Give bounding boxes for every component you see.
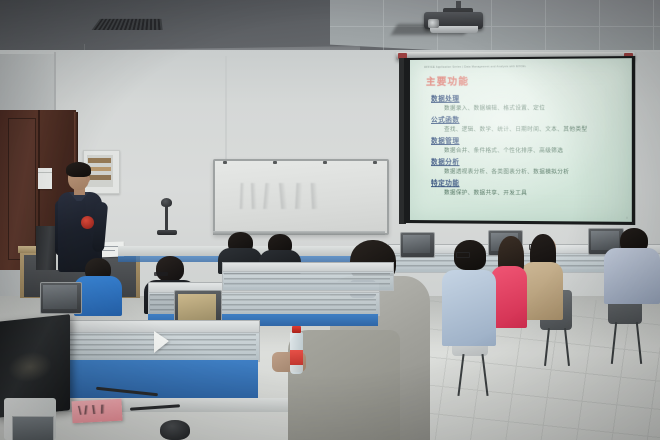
glasses-icon: [154, 272, 168, 276]
whiteboard-writing: [238, 183, 348, 209]
slide-section-detail: 查找、逻辑、数学、统计、日期时间、文本、其他类型: [444, 125, 623, 133]
glasses-icon: [456, 252, 470, 258]
wall-art-band-1: [88, 158, 111, 163]
attendee-body-light-blue-shirt: [442, 270, 496, 346]
slide-section: 数据处理 数据录入、数据编辑、格式设置、定位: [422, 92, 623, 112]
instructor-ear: [86, 176, 90, 182]
wall-art-band-2: [88, 167, 111, 171]
attendee-body-beige-coat: [521, 262, 563, 320]
slide-section: 公式函数 查找、逻辑、数学、统计、日期时间、文本、其他类型: [422, 113, 623, 133]
air-vent-icon: [92, 19, 163, 30]
bottle-cap-icon[interactable]: [292, 326, 301, 333]
slide-section-detail: 数据录入、数据编辑、格式设置、定位: [444, 103, 623, 112]
paper-sheet: [154, 331, 169, 353]
student-body-grey-with-bottle: [288, 330, 400, 440]
slide-section-heading: 数据处理: [431, 92, 623, 103]
slide-section-heading: 特定功能: [431, 177, 623, 188]
slide-title: 主要功能: [426, 72, 623, 87]
slide-section-heading: 公式函数: [431, 113, 623, 124]
bottle-label: [290, 350, 303, 365]
student-head-with-glasses: [156, 256, 184, 282]
whiteboard-clip: [323, 161, 327, 164]
attendee-body-lavender-shirt: [604, 248, 660, 304]
slide-page-number: 8: [626, 217, 627, 220]
slide-section: 数据分析 数据透视表分析、各类图表分析、数据模拟分析: [422, 156, 623, 176]
slide-section: 数据管理 数据合并、条件格式、个性化排序、高级筛选: [422, 135, 623, 154]
cubicle-accent-front: [68, 360, 258, 400]
monitor-sheen: [8, 350, 52, 385]
slide-section-heading: 数据管理: [431, 135, 623, 145]
cabinet-panel: [8, 118, 36, 260]
monitor-screen: [43, 285, 77, 309]
foreground-monitor-screen: [12, 416, 54, 440]
wall-art-band-3: [88, 175, 111, 180]
cubicle-blinds-right-mid: [224, 273, 390, 287]
microphone-icon: [161, 198, 172, 207]
slide-section-detail: 数据透视表分析、各类图表分析、数据模拟分析: [444, 167, 623, 176]
slide-section-heading: 数据分析: [431, 156, 623, 167]
slide-section-detail: 数据合并、条件格式、个性化排序、高级筛选: [444, 146, 623, 154]
sticky-note-text: [78, 404, 112, 415]
slide-section: 特定功能 数据保护、数据共享、开发工具: [422, 177, 623, 197]
whiteboard-clip: [223, 161, 227, 164]
instructor-shirt-logo: [81, 216, 94, 229]
cabinet-notice-line: [38, 172, 52, 173]
monitor-screen: [403, 235, 430, 253]
projector-lens-icon: [428, 19, 439, 28]
slide-section-detail: 数据保护、数据共享、开发工具: [444, 188, 623, 197]
microphone-base: [157, 230, 177, 235]
presentation-slide: OFFICE Application Series | Data Managem…: [410, 58, 632, 222]
whiteboard-clip: [273, 161, 277, 164]
whiteboard-clip: [373, 161, 377, 164]
instructor-hair: [66, 162, 91, 177]
pc-tower: [36, 226, 56, 270]
monitor-screen-active: [178, 294, 216, 320]
wall-seam: [225, 56, 227, 176]
slide-header: OFFICE Application Series | Data Managem…: [424, 64, 623, 69]
computer-mouse[interactable]: [160, 420, 190, 440]
attendee-body-pink-top: [491, 266, 527, 328]
classroom-scene: OFFICE Application Series | Data Managem…: [0, 0, 660, 440]
